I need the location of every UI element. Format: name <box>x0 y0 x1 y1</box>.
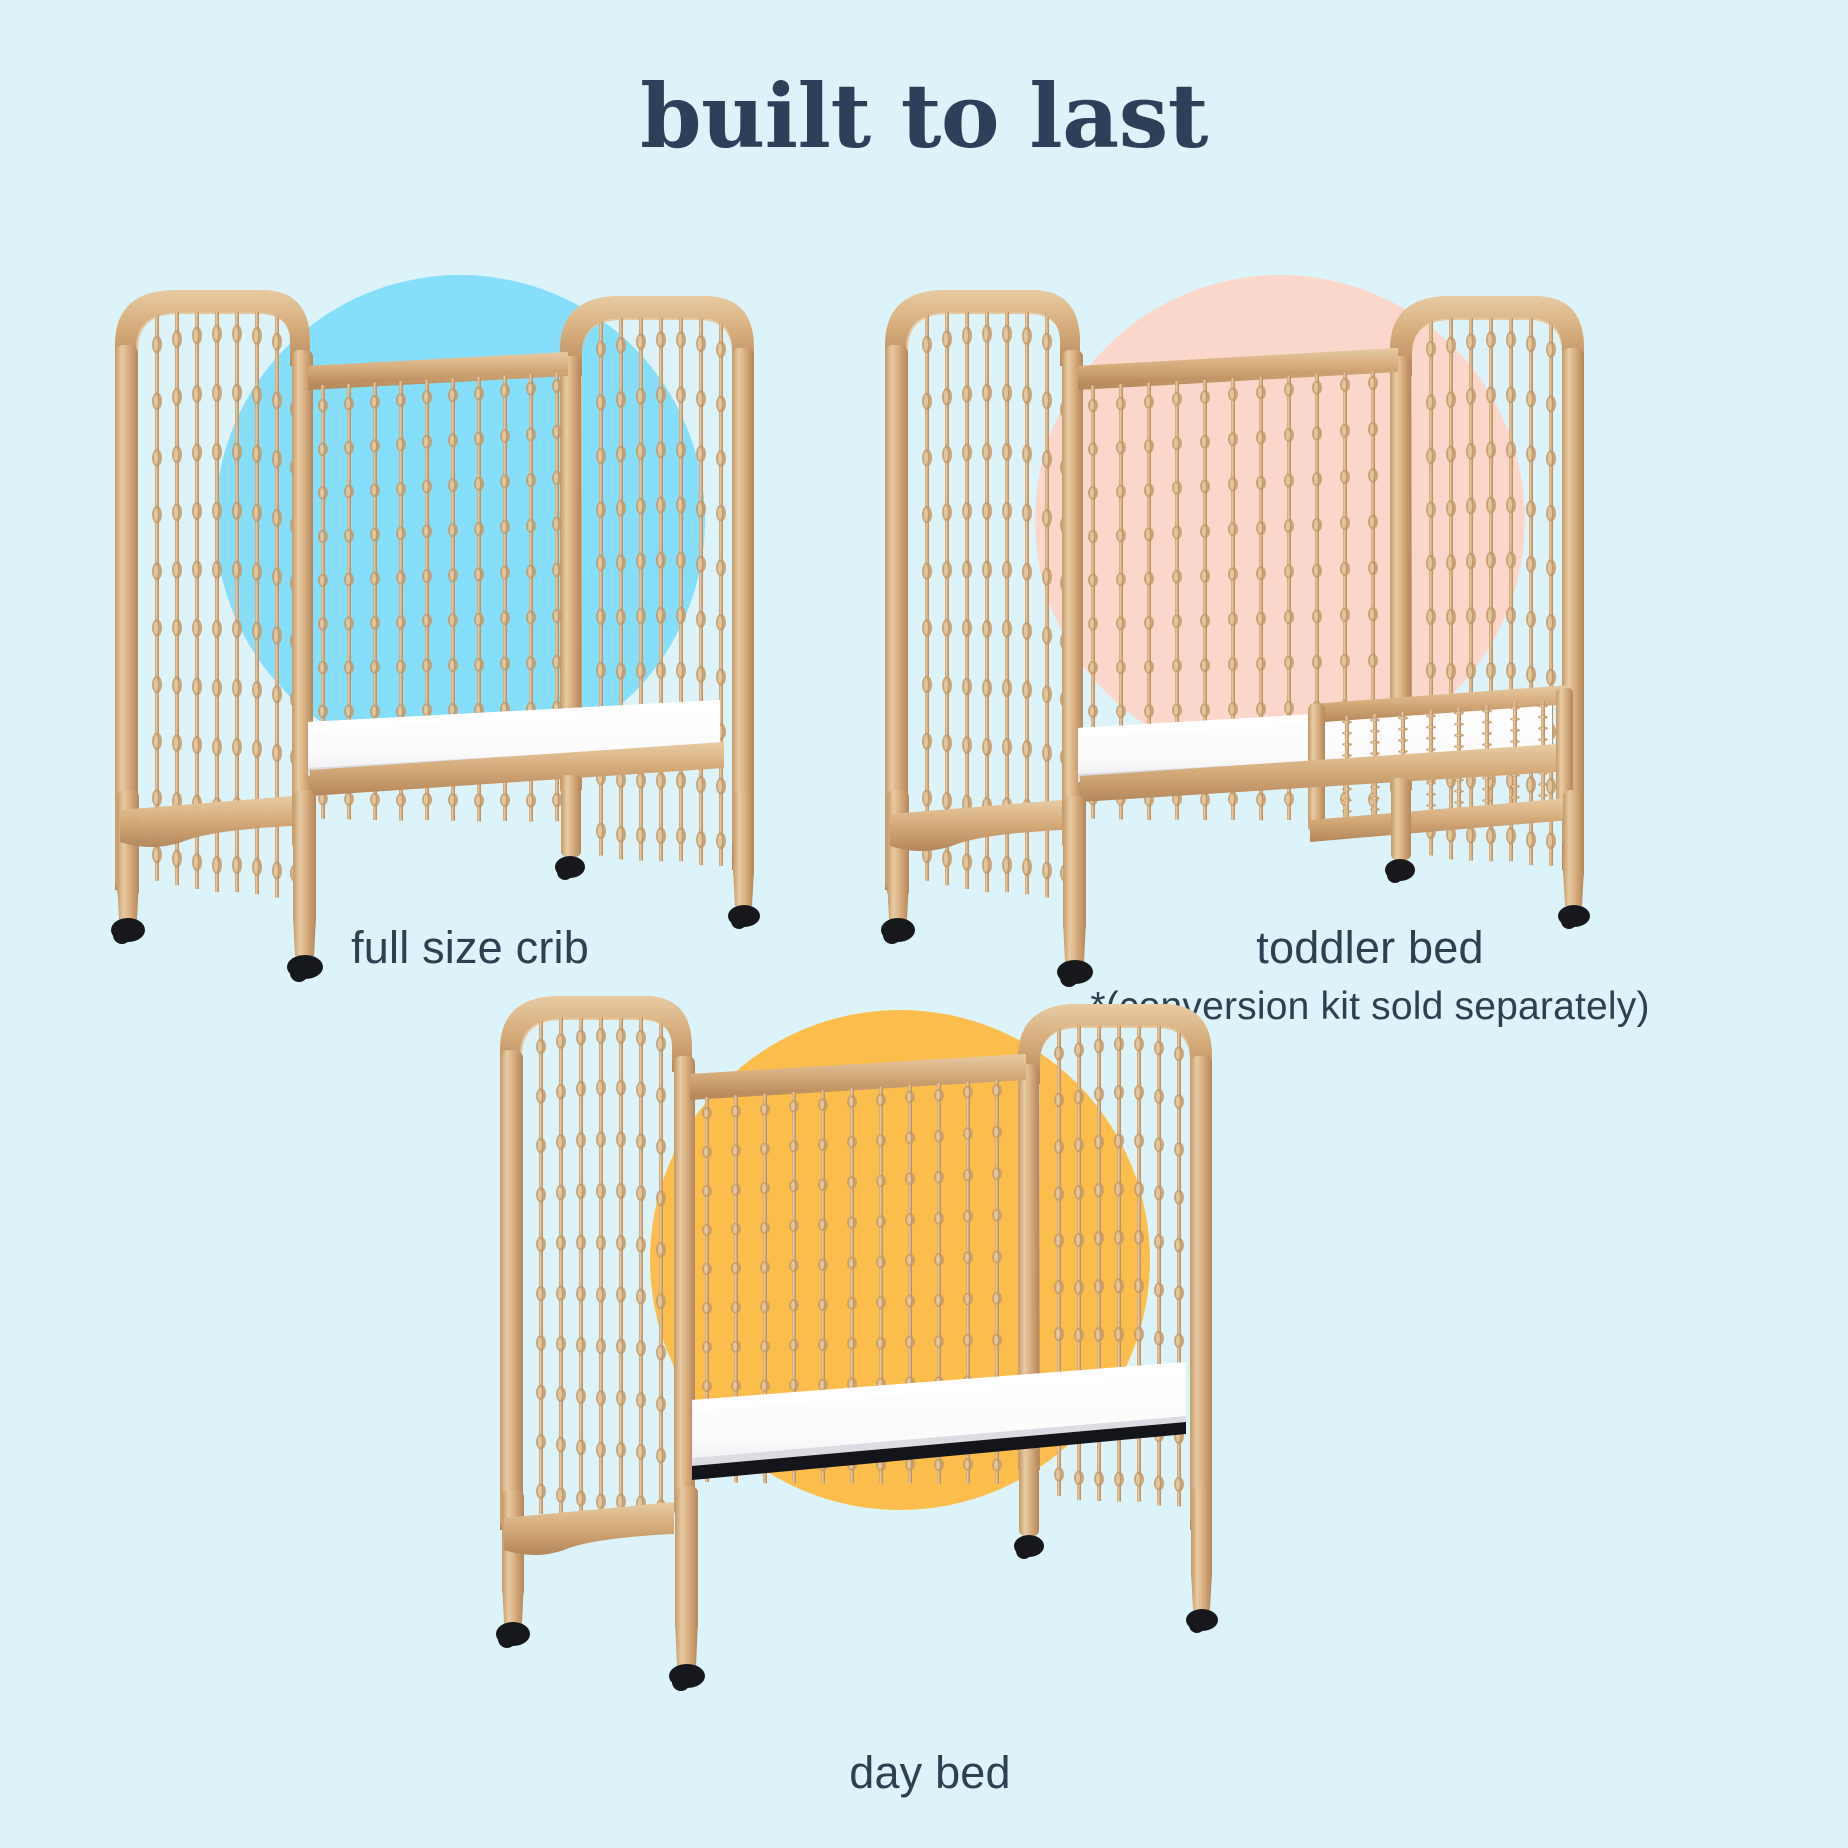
accent-circle-blue <box>215 275 705 765</box>
page-title: built to last <box>0 72 1848 160</box>
infographic-page: built to last <box>0 0 1848 1848</box>
product-cell-full-size-crib <box>60 230 820 930</box>
caster-wheels <box>496 1535 1218 1691</box>
product-cell-day-bed <box>430 930 1420 1730</box>
caption-day-bed: day bed <box>500 1745 1360 1801</box>
caption-label: day bed <box>500 1745 1360 1801</box>
day-bed-illustration <box>430 930 1420 1730</box>
product-cell-toddler-bed <box>830 230 1790 930</box>
toddler-bed-illustration <box>830 230 1790 930</box>
crib-illustration <box>60 230 820 930</box>
